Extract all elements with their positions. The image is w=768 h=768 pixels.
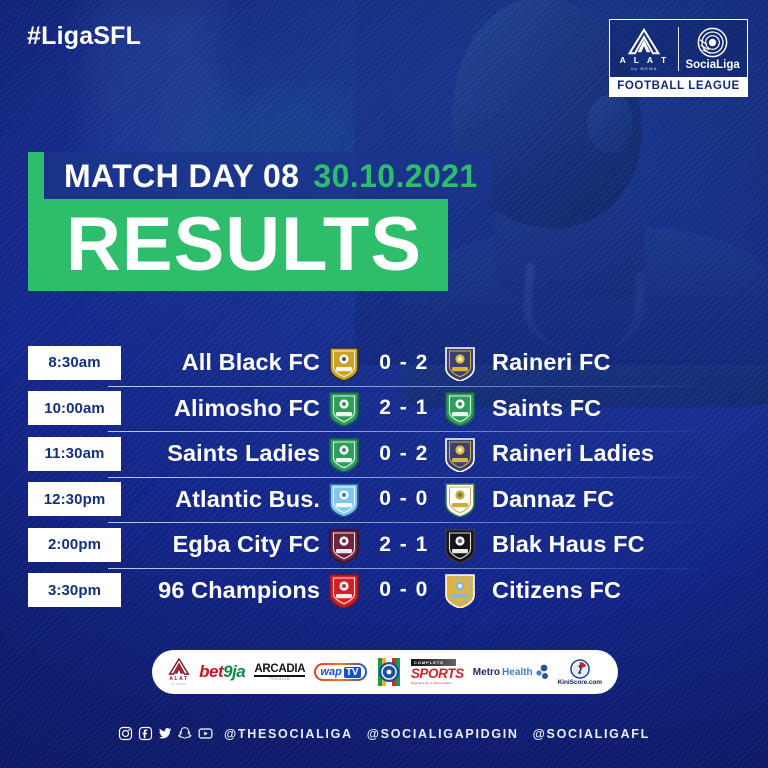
- youtube-icon[interactable]: [198, 726, 213, 741]
- results-row: RESULTS: [28, 199, 492, 291]
- match-time: 8:30am: [28, 346, 121, 380]
- match-day-accent-bar: [28, 152, 44, 200]
- match-time: 2:00pm: [28, 528, 121, 562]
- all-black-fc-crest: [328, 345, 360, 381]
- away-team-name: Dannaz FC: [492, 486, 614, 513]
- sponsor-metrohealth-part2: Health: [502, 667, 533, 678]
- social-icons: [118, 726, 213, 741]
- sponsor-metrohealth-part1: Metro: [473, 667, 500, 678]
- result-row: 8:30amAll Black FC 0 - 2 Raineri FC: [0, 340, 768, 386]
- sponsor-arcadia-label: ARCADIA: [254, 663, 305, 675]
- title-block: MATCH DAY 08 30.10.2021 RESULTS: [28, 152, 492, 291]
- hashtag: #LigaSFL: [27, 22, 141, 51]
- match-time: 12:30pm: [28, 482, 121, 516]
- away-team-name: Raineri FC: [492, 349, 611, 376]
- facebook-icon[interactable]: [138, 726, 153, 741]
- results-accent-bar: [28, 199, 44, 291]
- kiniscore-logo-icon: [570, 659, 590, 679]
- egba-city-fc-crest: [328, 527, 360, 563]
- home-team-crest: [328, 572, 360, 608]
- sponsor-football-badge: [376, 657, 402, 687]
- sponsor-bar: ALAT by WEMA bet9ja ARCADIA PREMIUM wap …: [152, 650, 618, 694]
- sponsor-metrohealth: MetroHealth: [473, 664, 549, 680]
- sponsor-bet9ja-part1: bet: [199, 662, 223, 682]
- sponsor-kiniscore-label: KiniScore.com: [558, 679, 602, 686]
- alat-subtitle: by WEMA: [631, 67, 657, 71]
- home-team-crest: [328, 345, 360, 381]
- alat-logo-icon: [168, 658, 190, 675]
- instagram-icon[interactable]: [118, 726, 133, 741]
- match-date: 30.10.2021: [313, 158, 477, 195]
- home-team-name: 96 Champions: [158, 577, 320, 604]
- results-table: 8:30amAll Black FC 0 - 2 Raineri FC10:00…: [0, 340, 768, 613]
- home-team-name: Alimosho FC: [174, 395, 320, 422]
- raineri-fc-crest: [444, 345, 476, 381]
- sponsor-arcadia: ARCADIA PREMIUM: [254, 663, 305, 681]
- match-score: 0 - 0: [368, 487, 440, 511]
- sponsor-alat: ALAT by WEMA: [168, 658, 190, 686]
- atlantic-business-crest: [328, 481, 360, 517]
- saints-fc-crest: [444, 390, 476, 426]
- match-day-label: MATCH DAY 08: [64, 158, 299, 195]
- sponsor-alat-label: ALAT: [169, 676, 188, 682]
- sponsor-complete-sports-label: SPORTS: [411, 667, 464, 681]
- alimosho-fc-crest: [328, 390, 360, 426]
- citizens-fc-crest: [444, 572, 476, 608]
- alat-wordmark: A L A T: [620, 56, 670, 65]
- dannaz-fc-crest: [444, 481, 476, 517]
- match-time: 10:00am: [28, 391, 121, 425]
- social-handles: @THESOCIALIGA@SOCIALIGAPIDGIN@SOCIALIGAF…: [224, 727, 650, 741]
- league-lockup: A L A T by WEMA SociaLiga FOOTBALL LEAGU…: [609, 19, 748, 97]
- away-team-name: Saints FC: [492, 395, 601, 422]
- results-heading: RESULTS: [66, 207, 422, 283]
- home-team-name: All Black FC: [182, 349, 320, 376]
- result-row: 10:00amAlimosho FC 2 - 1 Saints FC: [0, 386, 768, 432]
- match-score: 2 - 1: [368, 533, 440, 557]
- match-score: 0 - 2: [368, 442, 440, 466]
- sponsor-complete-sports-sub: Nigeria's No.1 Sports Daily: [411, 681, 452, 685]
- match-day-row: MATCH DAY 08 30.10.2021: [28, 152, 492, 200]
- sponsor-bet9ja-part2: 9ja: [223, 662, 245, 682]
- home-team-crest: [328, 481, 360, 517]
- away-team-crest: [444, 436, 476, 472]
- socialiga-fingerprint-ball-icon: [697, 27, 728, 58]
- away-team-crest: [444, 527, 476, 563]
- sponsor-complete-sports: COMPLETE SPORTS Nigeria's No.1 Sports Da…: [411, 659, 464, 686]
- match-score: 0 - 0: [368, 578, 440, 602]
- away-team-crest: [444, 481, 476, 517]
- match-score: 0 - 2: [368, 351, 440, 375]
- home-team-name: Saints Ladies: [167, 440, 320, 467]
- result-row: 3:30pm96 Champions 0 - 0 Citizens FC: [0, 568, 768, 614]
- social-footer: @THESOCIALIGA@SOCIALIGAPIDGIN@SOCIALIGAF…: [0, 726, 768, 741]
- sponsor-waptv-part1: wap: [320, 666, 341, 678]
- alat-triangle-icon: [626, 28, 662, 55]
- raineri-ladies-crest: [444, 436, 476, 472]
- sponsor-arcadia-sub: PREMIUM: [270, 677, 291, 681]
- lockup-divider: [678, 27, 679, 71]
- sponsor-alat-sub: by WEMA: [171, 683, 186, 686]
- sponsor-kiniscore: KiniScore.com: [558, 659, 602, 686]
- home-team-name: Egba City FC: [173, 531, 320, 558]
- snapchat-icon[interactable]: [178, 726, 193, 741]
- away-team-crest: [444, 572, 476, 608]
- away-team-crest: [444, 345, 476, 381]
- home-team-crest: [328, 527, 360, 563]
- social-handle[interactable]: @SOCIALIGAFL: [533, 727, 650, 741]
- sponsor-waptv: wap TV: [314, 663, 366, 681]
- social-handle[interactable]: @SOCIALIGAPIDGIN: [367, 727, 519, 741]
- sponsor-complete-sports-cap: COMPLETE: [411, 659, 456, 666]
- home-team-name: Atlantic Bus.: [175, 486, 320, 513]
- football-federation-badge-icon: [376, 657, 402, 687]
- match-time: 3:30pm: [28, 573, 121, 607]
- home-team-crest: [328, 390, 360, 426]
- sponsor-bet9ja: bet9ja: [199, 662, 245, 682]
- sponsor-waptv-part2: TV: [344, 667, 361, 678]
- result-row: 2:00pmEgba City FC 2 - 1 Blak Haus FC: [0, 522, 768, 568]
- socialiga-wordmark: SociaLiga: [685, 60, 739, 72]
- result-row: 12:30pmAtlantic Bus. 0 - 0 Dannaz FC: [0, 477, 768, 523]
- match-time: 11:30am: [28, 437, 121, 471]
- home-team-crest: [328, 436, 360, 472]
- saints-ladies-crest: [328, 436, 360, 472]
- away-team-crest: [444, 390, 476, 426]
- away-team-name: Blak Haus FC: [492, 531, 645, 558]
- away-team-name: Citizens FC: [492, 577, 621, 604]
- metrohealth-dots-icon: [535, 664, 549, 680]
- match-score: 2 - 1: [368, 396, 440, 420]
- 96-champions-crest: [328, 572, 360, 608]
- blak-haus-fc-crest: [444, 527, 476, 563]
- away-team-name: Raineri Ladies: [492, 440, 654, 467]
- football-league-banner: FOOTBALL LEAGUE: [610, 77, 747, 96]
- social-handle[interactable]: @THESOCIALIGA: [224, 727, 353, 741]
- twitter-icon[interactable]: [158, 726, 173, 741]
- result-row: 11:30amSaints Ladies 0 - 2 Raineri Ladie…: [0, 431, 768, 477]
